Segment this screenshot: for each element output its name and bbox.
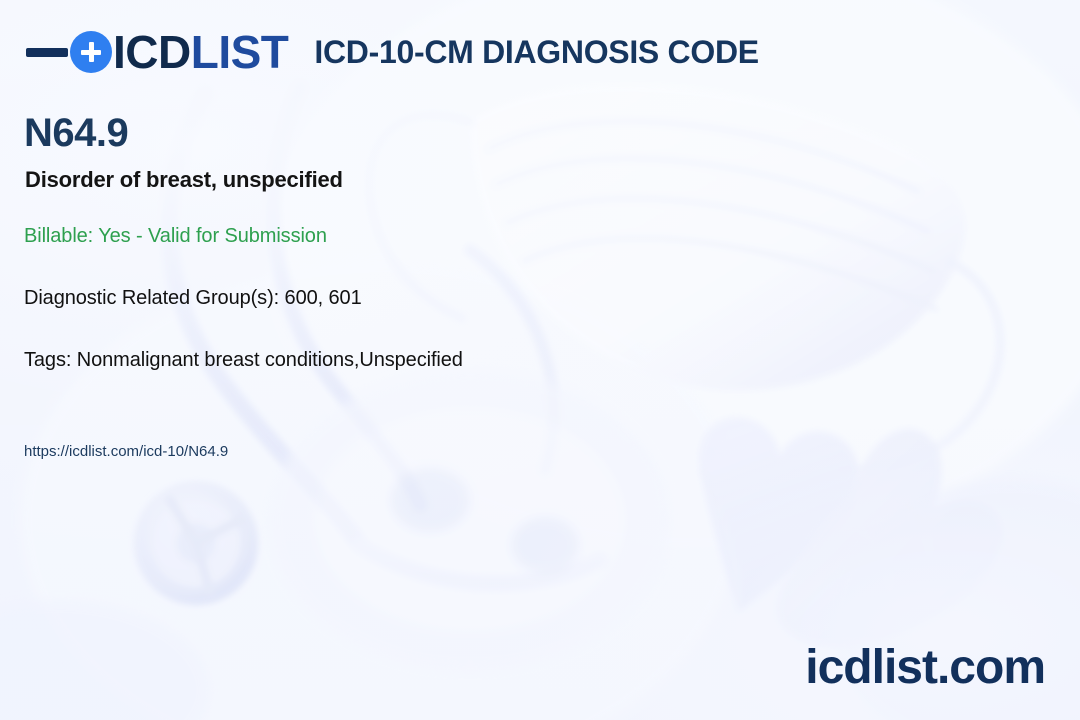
- page-title: ICD-10-CM DIAGNOSIS CODE: [314, 34, 758, 71]
- icd-code-card: ICD LIST ICD-10-CM DIAGNOSIS CODE N64.9 …: [0, 0, 1080, 720]
- billable-status: Billable: Yes - Valid for Submission: [24, 224, 327, 248]
- logo-word-icd: ICD: [113, 29, 191, 75]
- footer-brand: icdlist.com: [805, 644, 1045, 692]
- diagnosis-code: N64.9: [24, 113, 128, 153]
- diagnostic-related-groups: Diagnostic Related Group(s): 600, 601: [24, 286, 362, 310]
- diagnosis-description: Disorder of breast, unspecified: [25, 167, 343, 193]
- icdlist-logo[interactable]: ICD LIST: [26, 22, 288, 82]
- plus-badge-icon: [70, 31, 112, 73]
- card-content: ICD LIST ICD-10-CM DIAGNOSIS CODE N64.9 …: [0, 0, 1080, 720]
- logo-word-list: LIST: [191, 29, 289, 75]
- source-url[interactable]: https://icdlist.com/icd-10/N64.9: [24, 443, 228, 461]
- header: ICD LIST ICD-10-CM DIAGNOSIS CODE: [26, 22, 759, 82]
- tags-line: Tags: Nonmalignant breast conditions,Uns…: [24, 348, 463, 372]
- dash-icon: [26, 48, 68, 57]
